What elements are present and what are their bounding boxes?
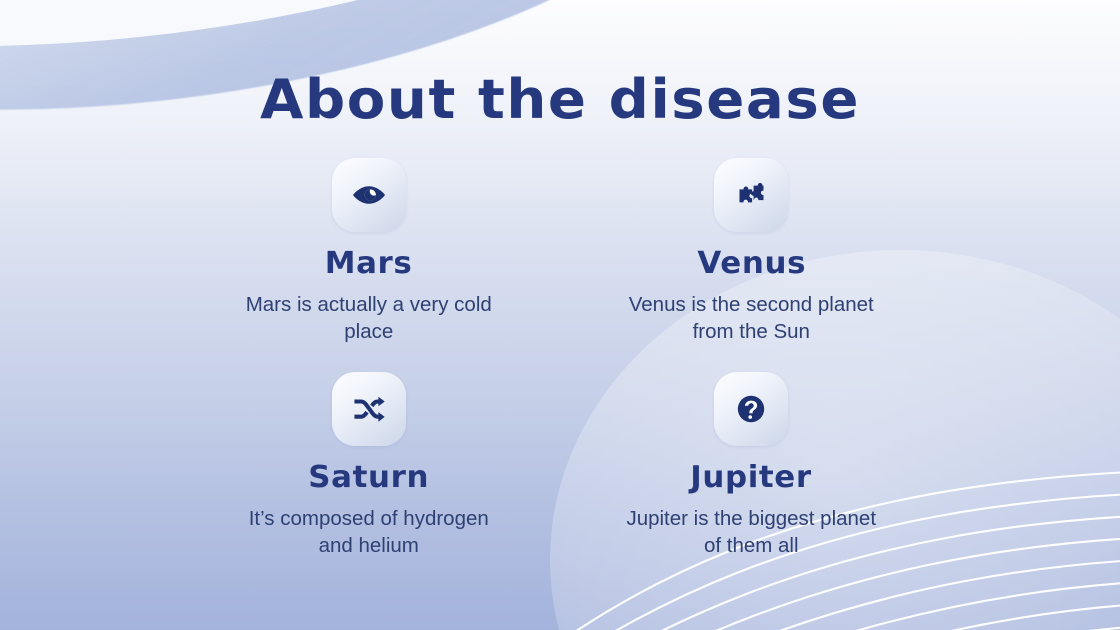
feature-card-jupiter: Jupiter Jupiter is the biggest planet of… — [598, 372, 906, 559]
feature-description-mars: Mars is actually a very cold place — [241, 291, 496, 346]
page-title: About the disease — [0, 68, 1120, 131]
feature-title-mars: Mars — [325, 248, 413, 280]
feature-description-saturn: It’s composed of hydrogen and helium — [241, 505, 496, 560]
eye-icon — [351, 177, 387, 213]
shuffle-arrows-icon — [351, 391, 387, 427]
feature-card-saturn: Saturn It’s composed of hydrogen and hel… — [215, 372, 523, 559]
question-mark-circle-icon — [733, 391, 769, 427]
icon-tile-venus — [714, 158, 788, 232]
slide-canvas: About the disease Mars Mars is actually … — [0, 0, 1120, 630]
feature-description-venus: Venus is the second planet from the Sun — [624, 291, 879, 346]
feature-card-venus: Venus Venus is the second planet from th… — [598, 158, 906, 345]
icon-tile-mars — [332, 158, 406, 232]
feature-title-jupiter: Jupiter — [690, 462, 812, 494]
icon-tile-saturn — [332, 372, 406, 446]
feature-description-jupiter: Jupiter is the biggest planet of them al… — [624, 505, 879, 560]
puzzle-pieces-icon — [733, 177, 769, 213]
feature-grid: Mars Mars is actually a very cold place … — [215, 158, 905, 559]
feature-title-venus: Venus — [697, 248, 806, 280]
icon-tile-jupiter — [714, 372, 788, 446]
feature-title-saturn: Saturn — [308, 462, 429, 494]
feature-card-mars: Mars Mars is actually a very cold place — [215, 158, 523, 345]
